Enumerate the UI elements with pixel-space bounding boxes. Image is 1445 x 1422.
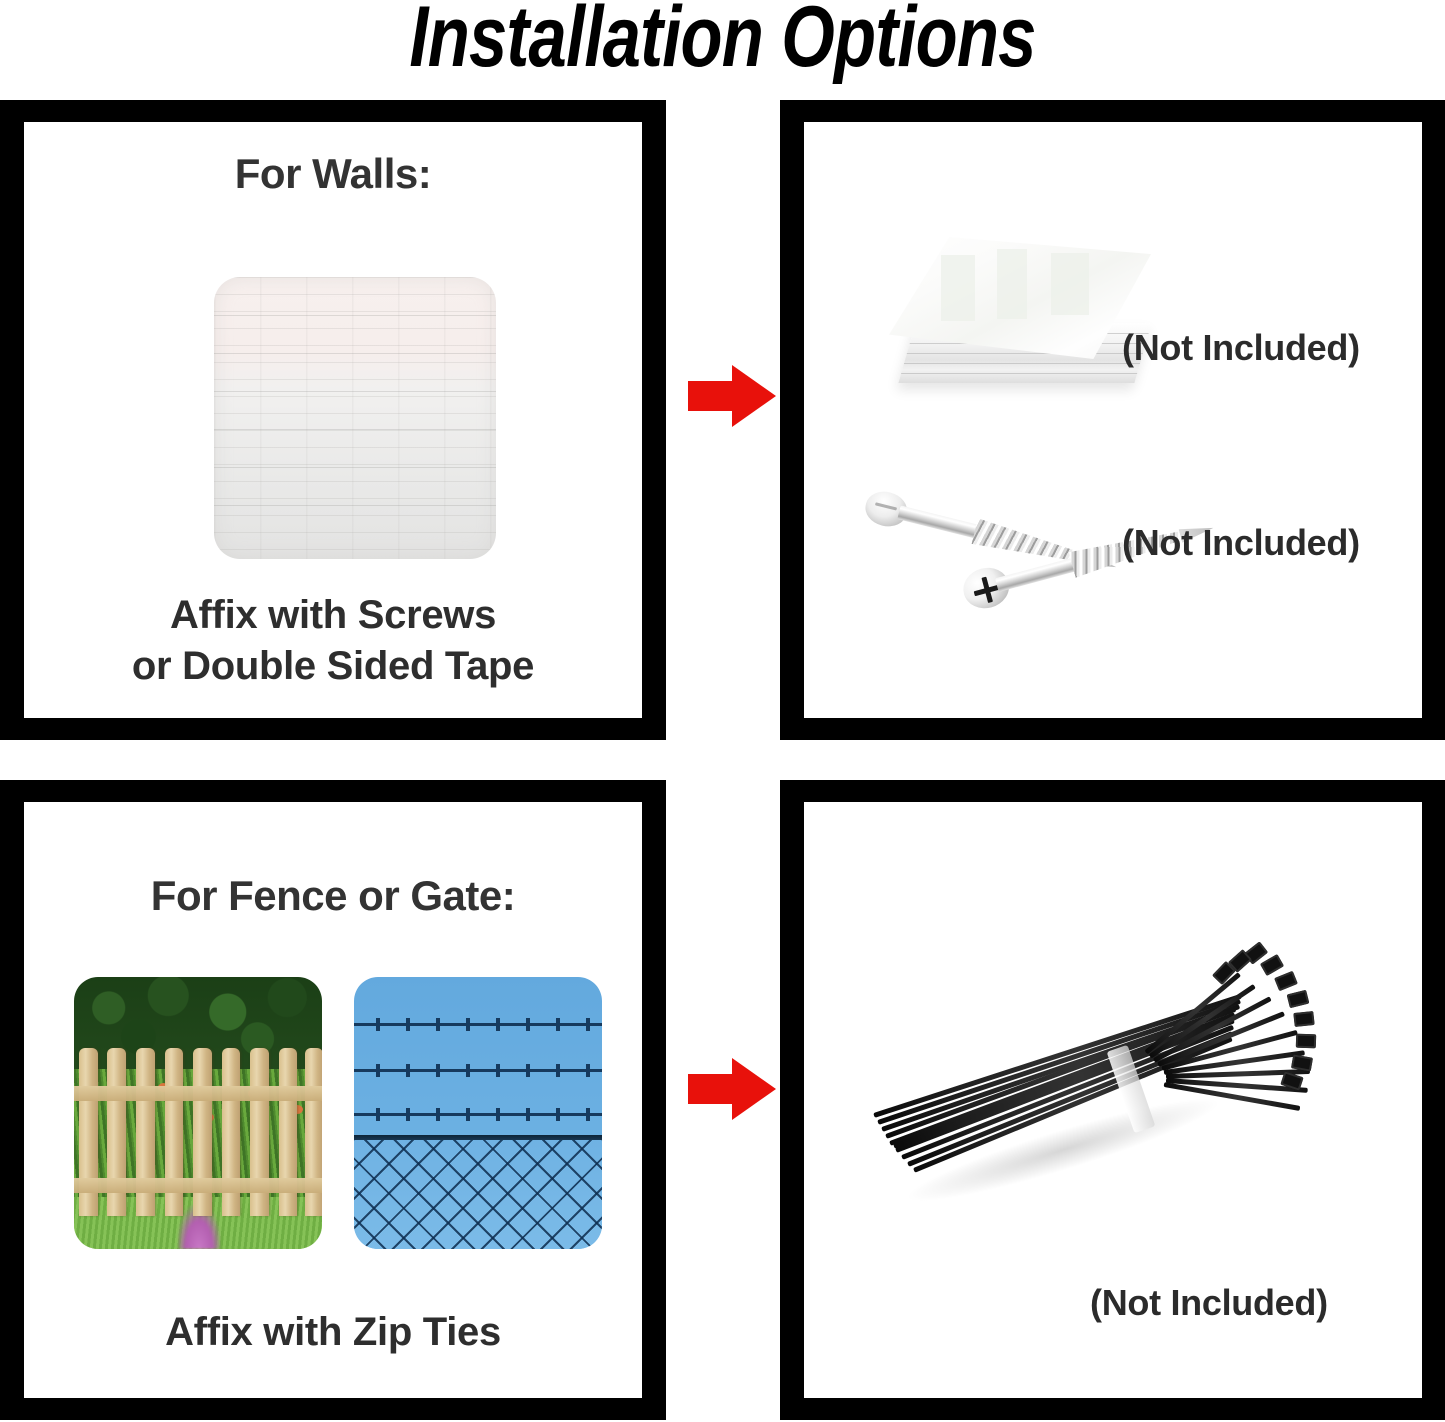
caption-for-fence-line1: Affix with Zip Ties (24, 1307, 642, 1358)
arrow-right-icon-bottom (688, 1058, 776, 1120)
panel-wall-hardware-content: (Not Included) (Not Included) (804, 122, 1422, 718)
not-included-label-zipties: (Not Included) (1090, 1282, 1328, 1324)
panel-for-walls: For Walls: Affix with Screws or Double S… (0, 100, 666, 740)
not-included-label-tape: (Not Included) (1122, 327, 1360, 369)
not-included-label-screws: (Not Included) (1122, 522, 1360, 564)
panel-heading-for-walls: For Walls: (24, 150, 642, 198)
panel-for-fence-or-gate-content: For Fence or Gate: (24, 802, 642, 1398)
wall-texture-image (214, 277, 496, 559)
chain-link-barbed-wire-photo (354, 977, 602, 1249)
panel-heading-for-fence-or-gate: For Fence or Gate: (24, 872, 642, 920)
panel-zip-ties-content: (Not Included) (804, 802, 1422, 1398)
panel-wall-hardware: (Not Included) (Not Included) (780, 100, 1445, 740)
panel-for-fence-or-gate: For Fence or Gate: (0, 780, 666, 1420)
zip-ties-image (874, 922, 1334, 1262)
caption-for-walls-line2: or Double Sided Tape (24, 641, 642, 692)
arrow-right-icon-top (688, 365, 776, 427)
picket-fence-photo (74, 977, 322, 1249)
panel-for-walls-content: For Walls: Affix with Screws or Double S… (24, 122, 642, 718)
page-title: Installation Options (145, 0, 1301, 80)
double-sided-tape-image (889, 237, 1161, 407)
panel-zip-ties: (Not Included) (780, 780, 1445, 1420)
caption-for-walls-line1: Affix with Screws (24, 590, 642, 641)
